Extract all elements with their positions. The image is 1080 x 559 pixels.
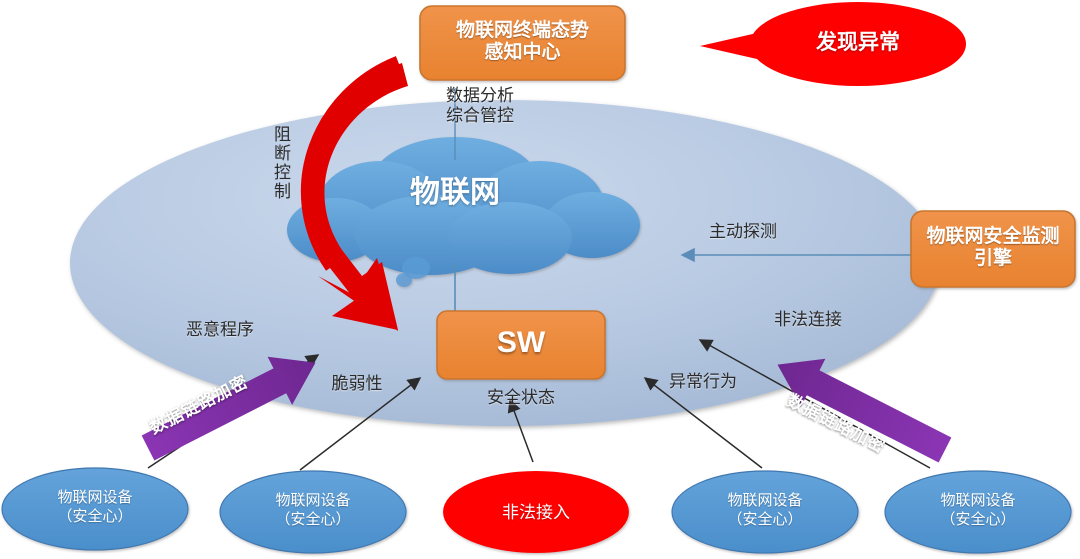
bottom-node-shapes[interactable]: [2, 468, 1071, 553]
block-control-label: 阻断控制: [272, 125, 289, 250]
switch-box-shape[interactable]: [437, 311, 605, 379]
alert-callout-shape: [700, 2, 966, 86]
diagram-graphics-layer: [0, 0, 1080, 559]
diagram-canvas: 物联网终端态势 感知中心 发现异常 物联网安全监测 引擎 数据分析 综合管控 物…: [0, 0, 1080, 559]
security-engine-box-shape[interactable]: [911, 211, 1075, 287]
situational-center-box-shape[interactable]: [420, 6, 625, 80]
